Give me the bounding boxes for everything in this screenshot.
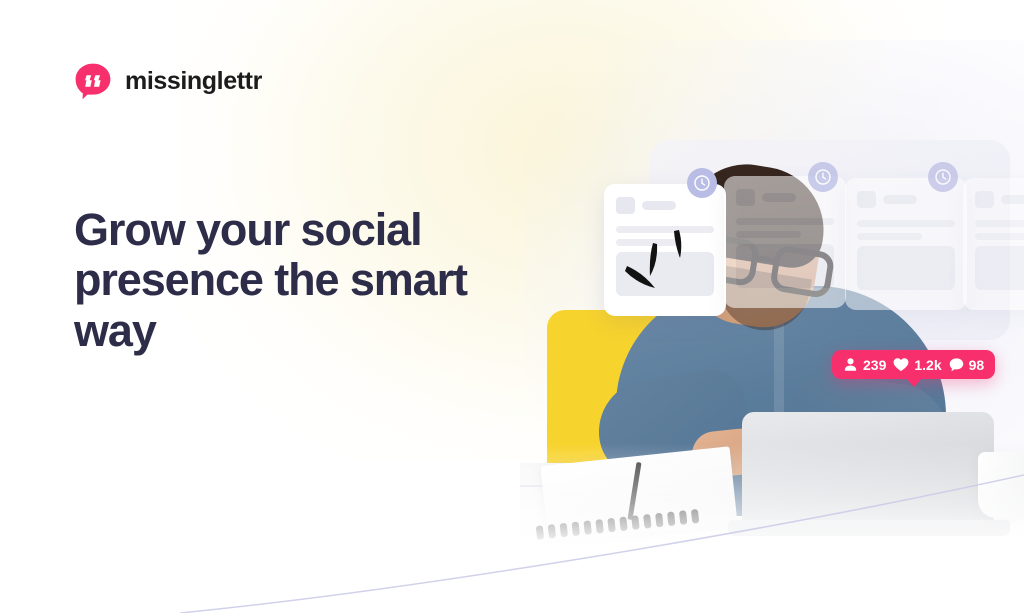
clock-icon <box>687 168 717 198</box>
text-line-placeholder <box>857 220 955 227</box>
brand-wordmark: missinglettr <box>125 69 262 94</box>
post-card[interactable] <box>724 176 846 308</box>
name-placeholder <box>883 195 917 204</box>
brand-logo[interactable]: missinglettr <box>74 62 262 100</box>
name-placeholder <box>762 193 796 202</box>
media-placeholder <box>736 244 834 288</box>
text-line-placeholder <box>736 231 801 238</box>
stat-value: 239 <box>863 358 886 372</box>
hero-illustration <box>520 0 1024 613</box>
stat-value: 1.2k <box>914 358 941 372</box>
avatar-placeholder <box>736 189 755 206</box>
stat-comments: 98 <box>949 357 985 372</box>
text-line-placeholder <box>736 218 834 225</box>
post-card[interactable] <box>845 178 967 310</box>
avatar-placeholder <box>975 191 994 208</box>
clock-icon <box>808 162 838 192</box>
post-card[interactable] <box>963 178 1024 310</box>
avatar-placeholder <box>616 197 635 214</box>
text-line-placeholder <box>975 233 1024 240</box>
heart-icon <box>893 357 909 372</box>
media-placeholder <box>975 246 1024 290</box>
quote-speech-bubble-icon <box>74 62 112 100</box>
stat-followers: 239 <box>843 357 886 372</box>
text-line-placeholder <box>857 233 922 240</box>
page-title: Grow your social presence the smart way <box>74 205 504 356</box>
hero-banner: missinglettr Grow your social presence t… <box>0 0 1024 613</box>
coffee-mug <box>978 452 1024 518</box>
avatar-placeholder <box>857 191 876 208</box>
stat-value: 98 <box>969 358 985 372</box>
comment-icon <box>949 357 964 372</box>
clock-icon <box>928 162 958 192</box>
text-line-placeholder <box>975 220 1024 227</box>
laptop-lid <box>742 412 994 530</box>
laptop-base <box>728 520 1010 536</box>
media-placeholder <box>857 246 955 290</box>
name-placeholder <box>1001 195 1024 204</box>
name-placeholder <box>642 201 676 210</box>
person-icon <box>843 357 858 372</box>
stat-likes: 1.2k <box>893 357 941 372</box>
sparkle-strokes-icon <box>623 222 703 302</box>
engagement-stats-badge: 239 1.2k 98 <box>832 350 995 379</box>
